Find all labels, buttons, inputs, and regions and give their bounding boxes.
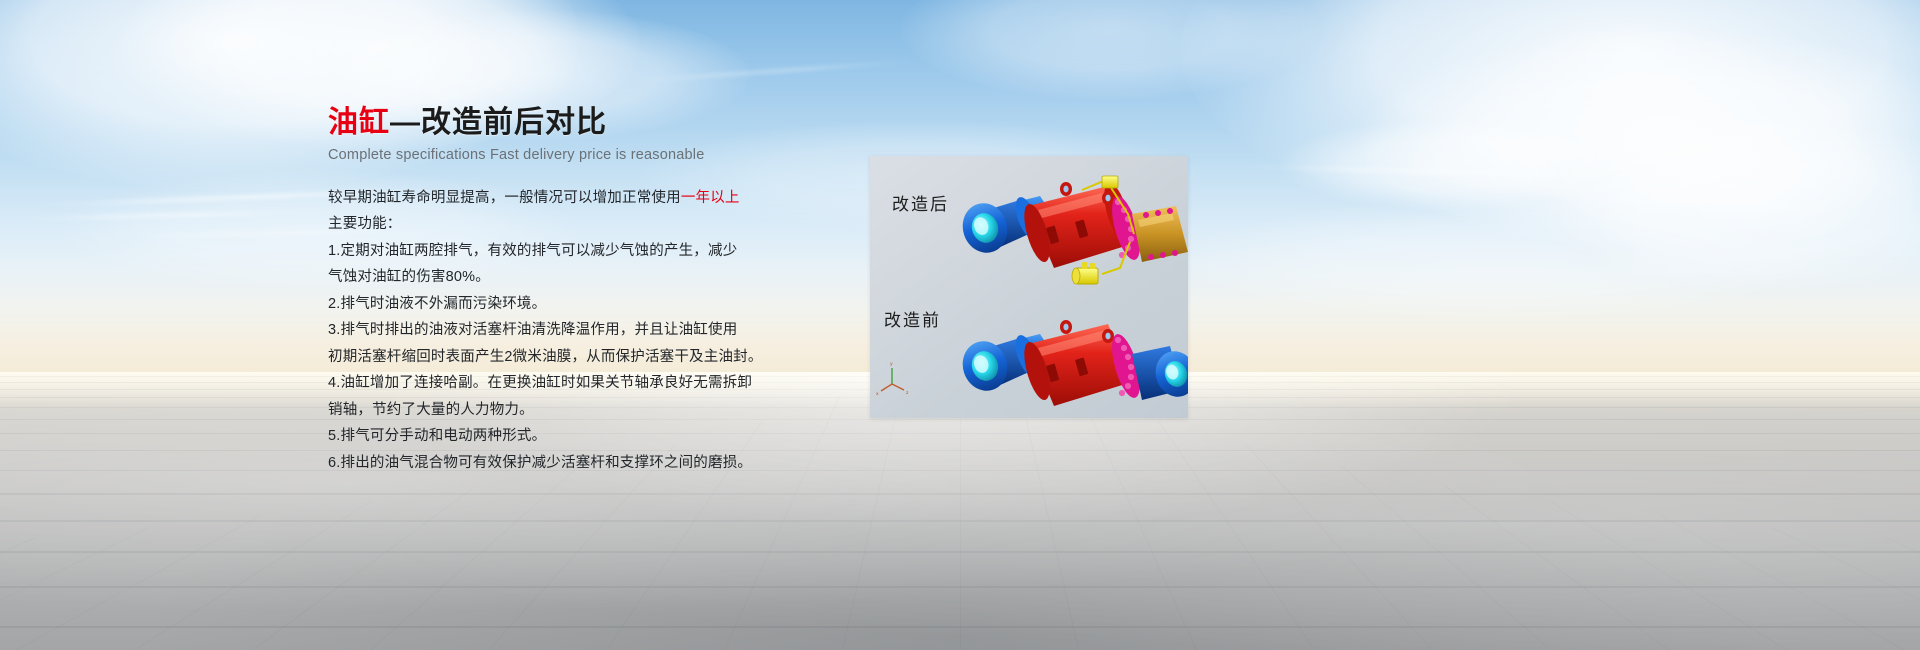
- body-line-11: 6.排出的油气混合物可有效保护减少活塞杆和支撑环之间的磨损。: [328, 450, 888, 477]
- body-line-1-highlight: 一年以上: [681, 190, 740, 206]
- body-line-9: 销轴，节约了大量的人力物力。: [328, 397, 888, 424]
- banner-copy: 油缸—改造前后对比 Complete specifications Fast d…: [328, 106, 888, 476]
- body-line-2: 主要功能：: [328, 211, 888, 238]
- body-line-8: 4.油缸增加了连接哈副。在更换油缸时如果关节轴承良好无需拆卸: [328, 370, 888, 397]
- label-after-modification: 改造后: [892, 190, 949, 215]
- body-line-4: 气蚀对油缸的伤害80%。: [328, 264, 888, 291]
- body-line-5: 2.排气时油液不外漏而污染环境。: [328, 291, 888, 318]
- svg-text:x: x: [876, 392, 879, 397]
- page-title: 油缸—改造前后对比: [328, 106, 888, 141]
- product-image-panel: y x z 改造后 改造前: [870, 156, 1188, 418]
- svg-text:y: y: [890, 362, 893, 367]
- cloud-streak: [1230, 165, 1610, 179]
- cloud-shape: [1180, 0, 1920, 230]
- body-line-3: 1.定期对油缸两腔排气，有效的排气可以减少气蚀的产生，减少: [328, 238, 888, 265]
- page-subtitle: Complete specifications Fast delivery pr…: [328, 147, 888, 163]
- cloud-streak: [0, 210, 330, 221]
- body-line-7: 初期活塞杆缩回时表面产生2微米油膜，从而保护活塞干及主油封。: [328, 344, 888, 371]
- cloud-shape: [1180, 200, 1820, 320]
- cylinder-after-modification: [956, 176, 1188, 284]
- cloud-shape: [1360, 30, 1920, 250]
- cloud-streak: [620, 60, 919, 84]
- cloud-shape: [900, 0, 1320, 100]
- body-line-6: 3.排气时排出的油液对活塞杆油清洗降温作用，并且让油缸使用: [328, 317, 888, 344]
- cloud-shape: [1280, 120, 1610, 210]
- label-before-modification: 改造前: [884, 306, 941, 331]
- vent-valve-assembly: [1072, 262, 1098, 284]
- body-line-10: 5.排气可分手动和电动两种形式。: [328, 423, 888, 450]
- title-rest: —改造前后对比: [390, 106, 607, 139]
- cloud-shape: [1540, 120, 1920, 290]
- coordinate-axis-icon: y x z: [876, 362, 909, 397]
- feature-list: 较早期油缸寿命明显提高，一般情况可以增加正常使用一年以上 主要功能： 1.定期对…: [328, 185, 888, 477]
- body-line-1: 较早期油缸寿命明显提高，一般情况可以增加正常使用一年以上: [328, 185, 888, 212]
- banner-stage: 油缸—改造前后对比 Complete specifications Fast d…: [0, 0, 1920, 650]
- title-highlight: 油缸: [328, 106, 390, 139]
- cylinder-before-modification: [956, 320, 1188, 406]
- svg-text:z: z: [906, 391, 909, 396]
- body-line-1-text: 较早期油缸寿命明显提高，一般情况可以增加正常使用: [328, 190, 681, 206]
